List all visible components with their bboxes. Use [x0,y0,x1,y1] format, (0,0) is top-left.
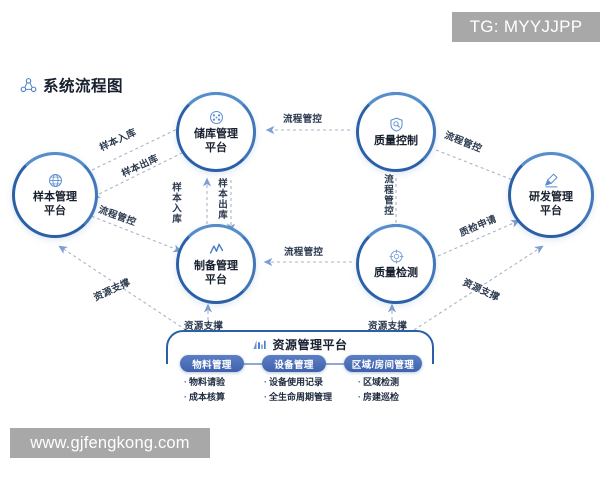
sample-globe-icon [47,172,64,189]
edge-label-sample-to-storage: 样本入库 [97,124,138,153]
edge-label-storage-to-sample: 样本出库 [119,150,160,179]
storage-dots-icon [208,109,225,126]
bullet-list-area: 区域检测 房建巡检 [358,375,399,405]
edge-label-qc-to-qtest: 流程管控 [380,174,394,216]
edge-label-qc-to-storage: 流程管控 [283,111,322,125]
resource-panel-title-text: 资源管理平台 [272,336,347,353]
edge-label-resource-to-rd: 资源支撑 [461,274,502,303]
pill-device-management[interactable]: 设备管理 [262,355,326,372]
node-sample-management[interactable]: 样本管理 平台 [12,152,98,238]
bullet-list-material: 物料请验 成本核算 [184,375,225,405]
pill-connector [244,363,262,365]
connector-layer [0,0,600,480]
node-quality-control[interactable]: 质量控制 [356,92,436,172]
page-title: 系统流程图 [20,74,123,96]
node-preparation-management[interactable]: 制备管理 平台 [176,224,256,304]
node-label: 储库管理 平台 [194,128,238,155]
microscope-icon [543,172,560,189]
edge-label-qtest-to-rd: 质检申请 [457,211,499,239]
edge-label-resource-to-sample: 资源支撑 [91,274,132,303]
edge-label-sample-to-prep: 流程管控 [97,202,139,229]
edge-label-qc-to-rd: 流程管控 [443,127,485,155]
node-label: 质量控制 [374,135,418,149]
list-item: 全生命周期管理 [264,390,332,405]
network-nodes-icon [20,77,37,94]
diagram-canvas: 系统流程图 样本管理 平台 储库管理 平台 制备管理 平台 [0,0,600,480]
edge-label-sample-inbound: 样本入库 [168,182,182,224]
pill-area-room-management[interactable]: 区域/房间管理 [344,355,422,372]
node-storage-management[interactable]: 储库管理 平台 [176,92,256,172]
bar-chart-icon [252,337,267,352]
pill-material-management[interactable]: 物料管理 [180,355,244,372]
edge-label-sample-outbound: 样本出库 [214,178,228,220]
node-label: 研发管理 平台 [529,191,573,218]
watermark-top-right: TG: MYYJJPP [452,12,600,42]
list-item: 物料请验 [184,375,225,390]
watermark-bottom-left: www.gjfengkong.com [10,428,210,458]
bullet-list-device: 设备使用记录 全生命周期管理 [264,375,332,405]
edge-label-qtest-to-prep: 流程管控 [284,244,323,258]
node-quality-testing[interactable]: 质量检测 [356,224,436,304]
list-item: 房建巡检 [358,390,399,405]
node-label: 样本管理 平台 [33,191,77,218]
node-label: 质量检测 [374,267,418,281]
node-label: 制备管理 平台 [194,260,238,287]
page-title-text: 系统流程图 [43,74,123,96]
chart-line-icon [208,241,225,258]
resource-panel-title: 资源管理平台 [166,336,434,353]
list-item: 成本核算 [184,390,225,405]
node-rd-management[interactable]: 研发管理 平台 [508,152,594,238]
list-item: 区域检测 [358,375,399,390]
target-crosshair-icon [388,248,405,265]
list-item: 设备使用记录 [264,375,332,390]
shield-check-icon [388,116,405,133]
pill-connector [326,363,344,365]
